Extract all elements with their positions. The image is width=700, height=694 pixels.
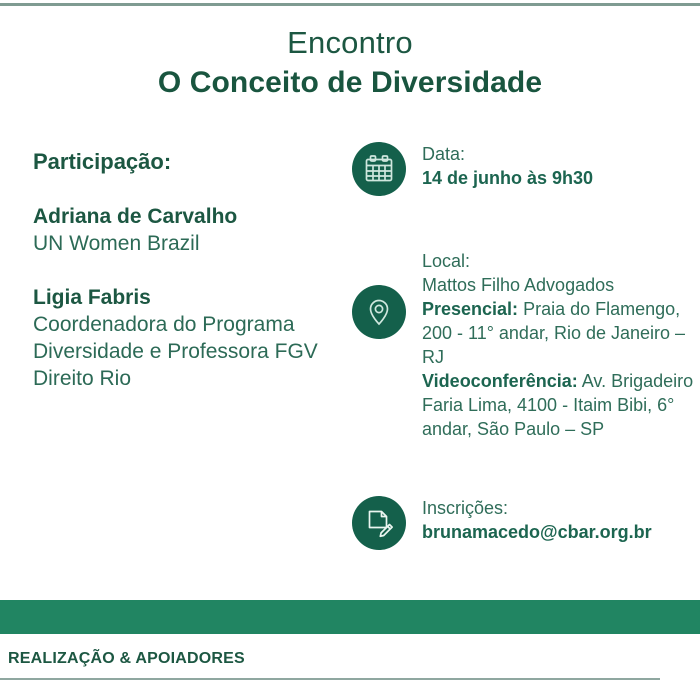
location-text: Local: Mattos Filho Advogados Presencial…	[422, 249, 700, 441]
location-presencial: Presencial: Praia do Flamengo, 200 - 11°…	[422, 297, 700, 369]
document-pencil-icon	[352, 496, 406, 550]
speaker-item: Adriana de Carvalho UN Women Brazil	[33, 204, 333, 257]
flyer-page: Encontro O Conceito de Diversidade Parti…	[0, 0, 700, 694]
registration-email[interactable]: brunamacedo@cbar.org.br	[422, 520, 652, 544]
footer-title: REALIZAÇÃO & APOIADORES	[8, 650, 245, 668]
top-divider	[0, 3, 700, 6]
registration-label: Inscrições:	[422, 497, 652, 520]
speaker-item: Ligia Fabris Coordenadora do Programa Di…	[33, 285, 333, 392]
participation-section: Participação: Adriana de Carvalho UN Wom…	[33, 148, 333, 392]
date-block: Data: 14 de junho às 9h30	[352, 142, 593, 196]
date-value: 14 de junho às 9h30	[422, 166, 593, 190]
location-venue: Mattos Filho Advogados	[422, 273, 700, 297]
date-label: Data:	[422, 143, 593, 166]
speaker-name: Adriana de Carvalho	[33, 204, 333, 230]
calendar-icon	[352, 142, 406, 196]
speaker-role: UN Women Brazil	[33, 230, 333, 257]
footer-divider	[0, 678, 660, 680]
location-videoconferencia: Videoconferência: Av. Brigadeiro Faria L…	[422, 369, 700, 441]
date-text: Data: 14 de junho às 9h30	[422, 142, 593, 190]
page-title: O Conceito de Diversidade	[0, 64, 700, 102]
registration-block: Inscrições: brunamacedo@cbar.org.br	[352, 496, 652, 550]
footer-banner	[0, 600, 700, 634]
speaker-role: Coordenadora do Programa Diversidade e P…	[33, 311, 333, 392]
map-pin-icon	[352, 285, 406, 339]
page-header: Encontro O Conceito de Diversidade	[0, 24, 700, 102]
header-eyebrow: Encontro	[0, 24, 700, 62]
participation-heading: Participação:	[33, 148, 333, 176]
location-block: Local: Mattos Filho Advogados Presencial…	[352, 285, 700, 441]
speaker-name: Ligia Fabris	[33, 285, 333, 311]
registration-text: Inscrições: brunamacedo@cbar.org.br	[422, 496, 652, 544]
presencial-label: Presencial:	[422, 299, 518, 319]
videoconferencia-label: Videoconferência:	[422, 371, 578, 391]
location-label: Local:	[422, 250, 700, 273]
